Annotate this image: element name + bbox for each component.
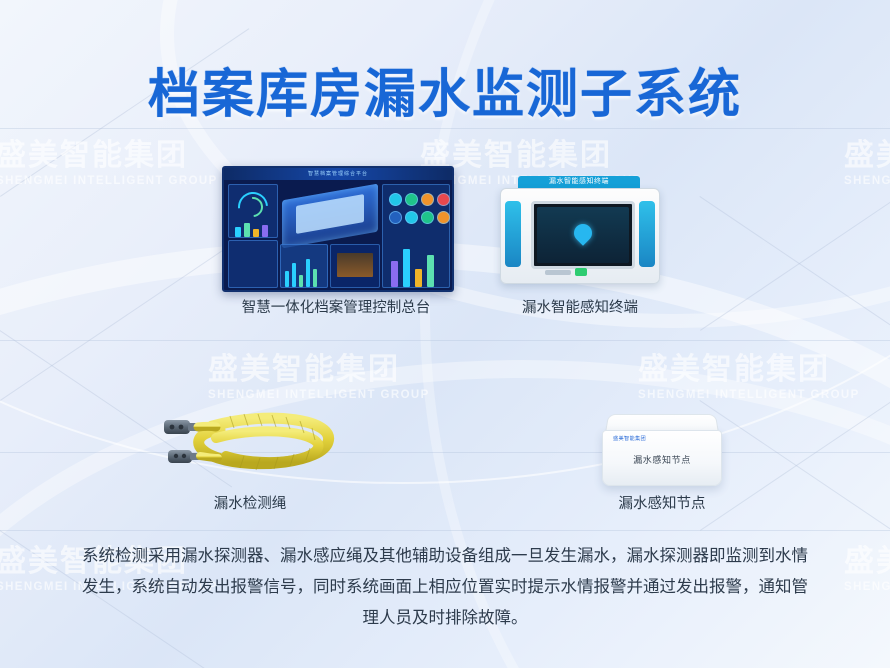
status-dot-row <box>389 193 450 206</box>
background-hline-3 <box>0 452 890 453</box>
terminal-header-label: 漏水智能感知终端 <box>518 176 640 188</box>
status-dot-icon <box>421 211 434 224</box>
gauge-bar <box>244 223 250 237</box>
background-hline-2 <box>0 340 890 341</box>
panel-bar <box>403 249 410 287</box>
console-status-panel <box>382 184 450 288</box>
status-dot-icon <box>389 193 402 206</box>
poster-page: 盛美智能集团 SHENGMEI INTELLIGENT GROUP 盛美智能集团… <box>0 0 890 668</box>
page-title: 档案库房漏水监测子系统 <box>0 52 890 127</box>
gauge-bar <box>235 227 241 237</box>
terminal-screen-inner <box>537 207 629 263</box>
console-trend-panel <box>228 240 278 288</box>
watermark: 盛美智能集团 SHENGMEI INTELLIGENT GROUP <box>844 140 890 187</box>
watermark-en: SHENGMEI INTELLIGENT GROUP <box>0 175 218 187</box>
status-dot-icon <box>421 193 434 206</box>
terminal-slot <box>545 270 571 275</box>
watermark: 盛美智能集团 SHENGMEI INTELLIGENT GROUP <box>0 140 218 187</box>
background-diagonal-6 <box>700 173 890 330</box>
watermark-cn: 盛美智能集团 <box>208 354 430 386</box>
watermark: 盛美智能集团 SHENGMEI INTELLIGENT GROUP <box>208 354 430 401</box>
node-front-face: 盛美智能集团 漏水感知节点 <box>602 430 722 486</box>
background-hline-4 <box>0 530 890 531</box>
description-paragraph: 系统检测采用漏水探测器、漏水感应绳及其他辅助设备组成一旦发生漏水，漏水探测器即监… <box>78 540 812 633</box>
archive-room-3d-view <box>282 184 378 249</box>
watermark: 盛美智能集团 SHENGMEI INTELLIGENT GROUP <box>844 546 890 593</box>
chart-bar <box>299 275 303 287</box>
watermark-cn: 盛美智能集团 <box>638 354 860 386</box>
terminal-side-panel-left <box>505 201 521 267</box>
watermark-cn: 盛美智能集团 <box>844 546 890 578</box>
water-drop-icon <box>570 220 595 245</box>
background-diagonal-3 <box>0 232 249 401</box>
status-dot-icon <box>437 211 450 224</box>
rope-connector-upper <box>164 420 198 434</box>
watermark: 盛美智能集团 SHENGMEI INTELLIGENT GROUP <box>638 354 860 401</box>
watermark-en: SHENGMEI INTELLIGENT GROUP <box>844 175 890 187</box>
background-diagonal-5 <box>699 196 890 365</box>
terminal-side-panel-right <box>639 201 655 267</box>
panel-bar <box>415 269 422 287</box>
watermark-en: SHENGMEI INTELLIGENT GROUP <box>208 389 430 401</box>
console-gauge-panel <box>228 184 278 238</box>
terminal-body <box>500 188 660 284</box>
leak-detection-rope <box>160 408 340 482</box>
console-video-panel <box>330 244 380 288</box>
watermark-en: SHENGMEI INTELLIGENT GROUP <box>638 389 860 401</box>
rope-illustration <box>160 408 340 482</box>
chart-bar <box>306 259 310 287</box>
rope-connector-lower <box>168 450 200 463</box>
console-screen-body <box>224 180 452 290</box>
gauge-bar <box>253 229 259 237</box>
chart-bar <box>292 263 296 287</box>
console-chart-panel-1 <box>280 244 328 288</box>
terminal-screen[interactable] <box>531 201 635 269</box>
leak-sensing-terminal: 漏水智能感知终端 <box>500 176 658 282</box>
console-screenshot: 智慧档案管理综合平台 <box>222 166 454 292</box>
caption-console: 智慧一体化档案管理控制总台 <box>222 296 450 317</box>
node-brand-label: 盛美智能集团 <box>613 435 646 442</box>
status-dot-icon <box>405 211 418 224</box>
status-dot-icon <box>437 193 450 206</box>
leak-sensing-node: 盛美智能集团 漏水感知节点 <box>600 412 722 488</box>
caption-node: 漏水感知节点 <box>580 492 744 513</box>
gauge-bar <box>262 225 268 237</box>
console-screen-header: 智慧档案管理综合平台 <box>224 168 452 180</box>
video-thumbnail <box>337 253 373 277</box>
watermark-cn: 盛美智能集团 <box>0 140 218 172</box>
status-dot-row <box>389 211 450 224</box>
chart-bar <box>285 271 289 287</box>
chart-bar <box>313 269 317 287</box>
status-dot-icon <box>405 193 418 206</box>
terminal-led-indicator <box>575 268 587 276</box>
caption-terminal: 漏水智能感知终端 <box>496 296 664 317</box>
caption-rope: 漏水检测绳 <box>170 492 330 513</box>
panel-bar <box>391 261 398 287</box>
watermark-cn: 盛美智能集团 <box>844 140 890 172</box>
status-dot-icon <box>389 211 402 224</box>
node-face-label: 漏水感知节点 <box>603 453 721 466</box>
watermark-en: SHENGMEI INTELLIGENT GROUP <box>844 581 890 593</box>
background-hline-1 <box>0 128 890 129</box>
panel-bar <box>427 255 434 287</box>
